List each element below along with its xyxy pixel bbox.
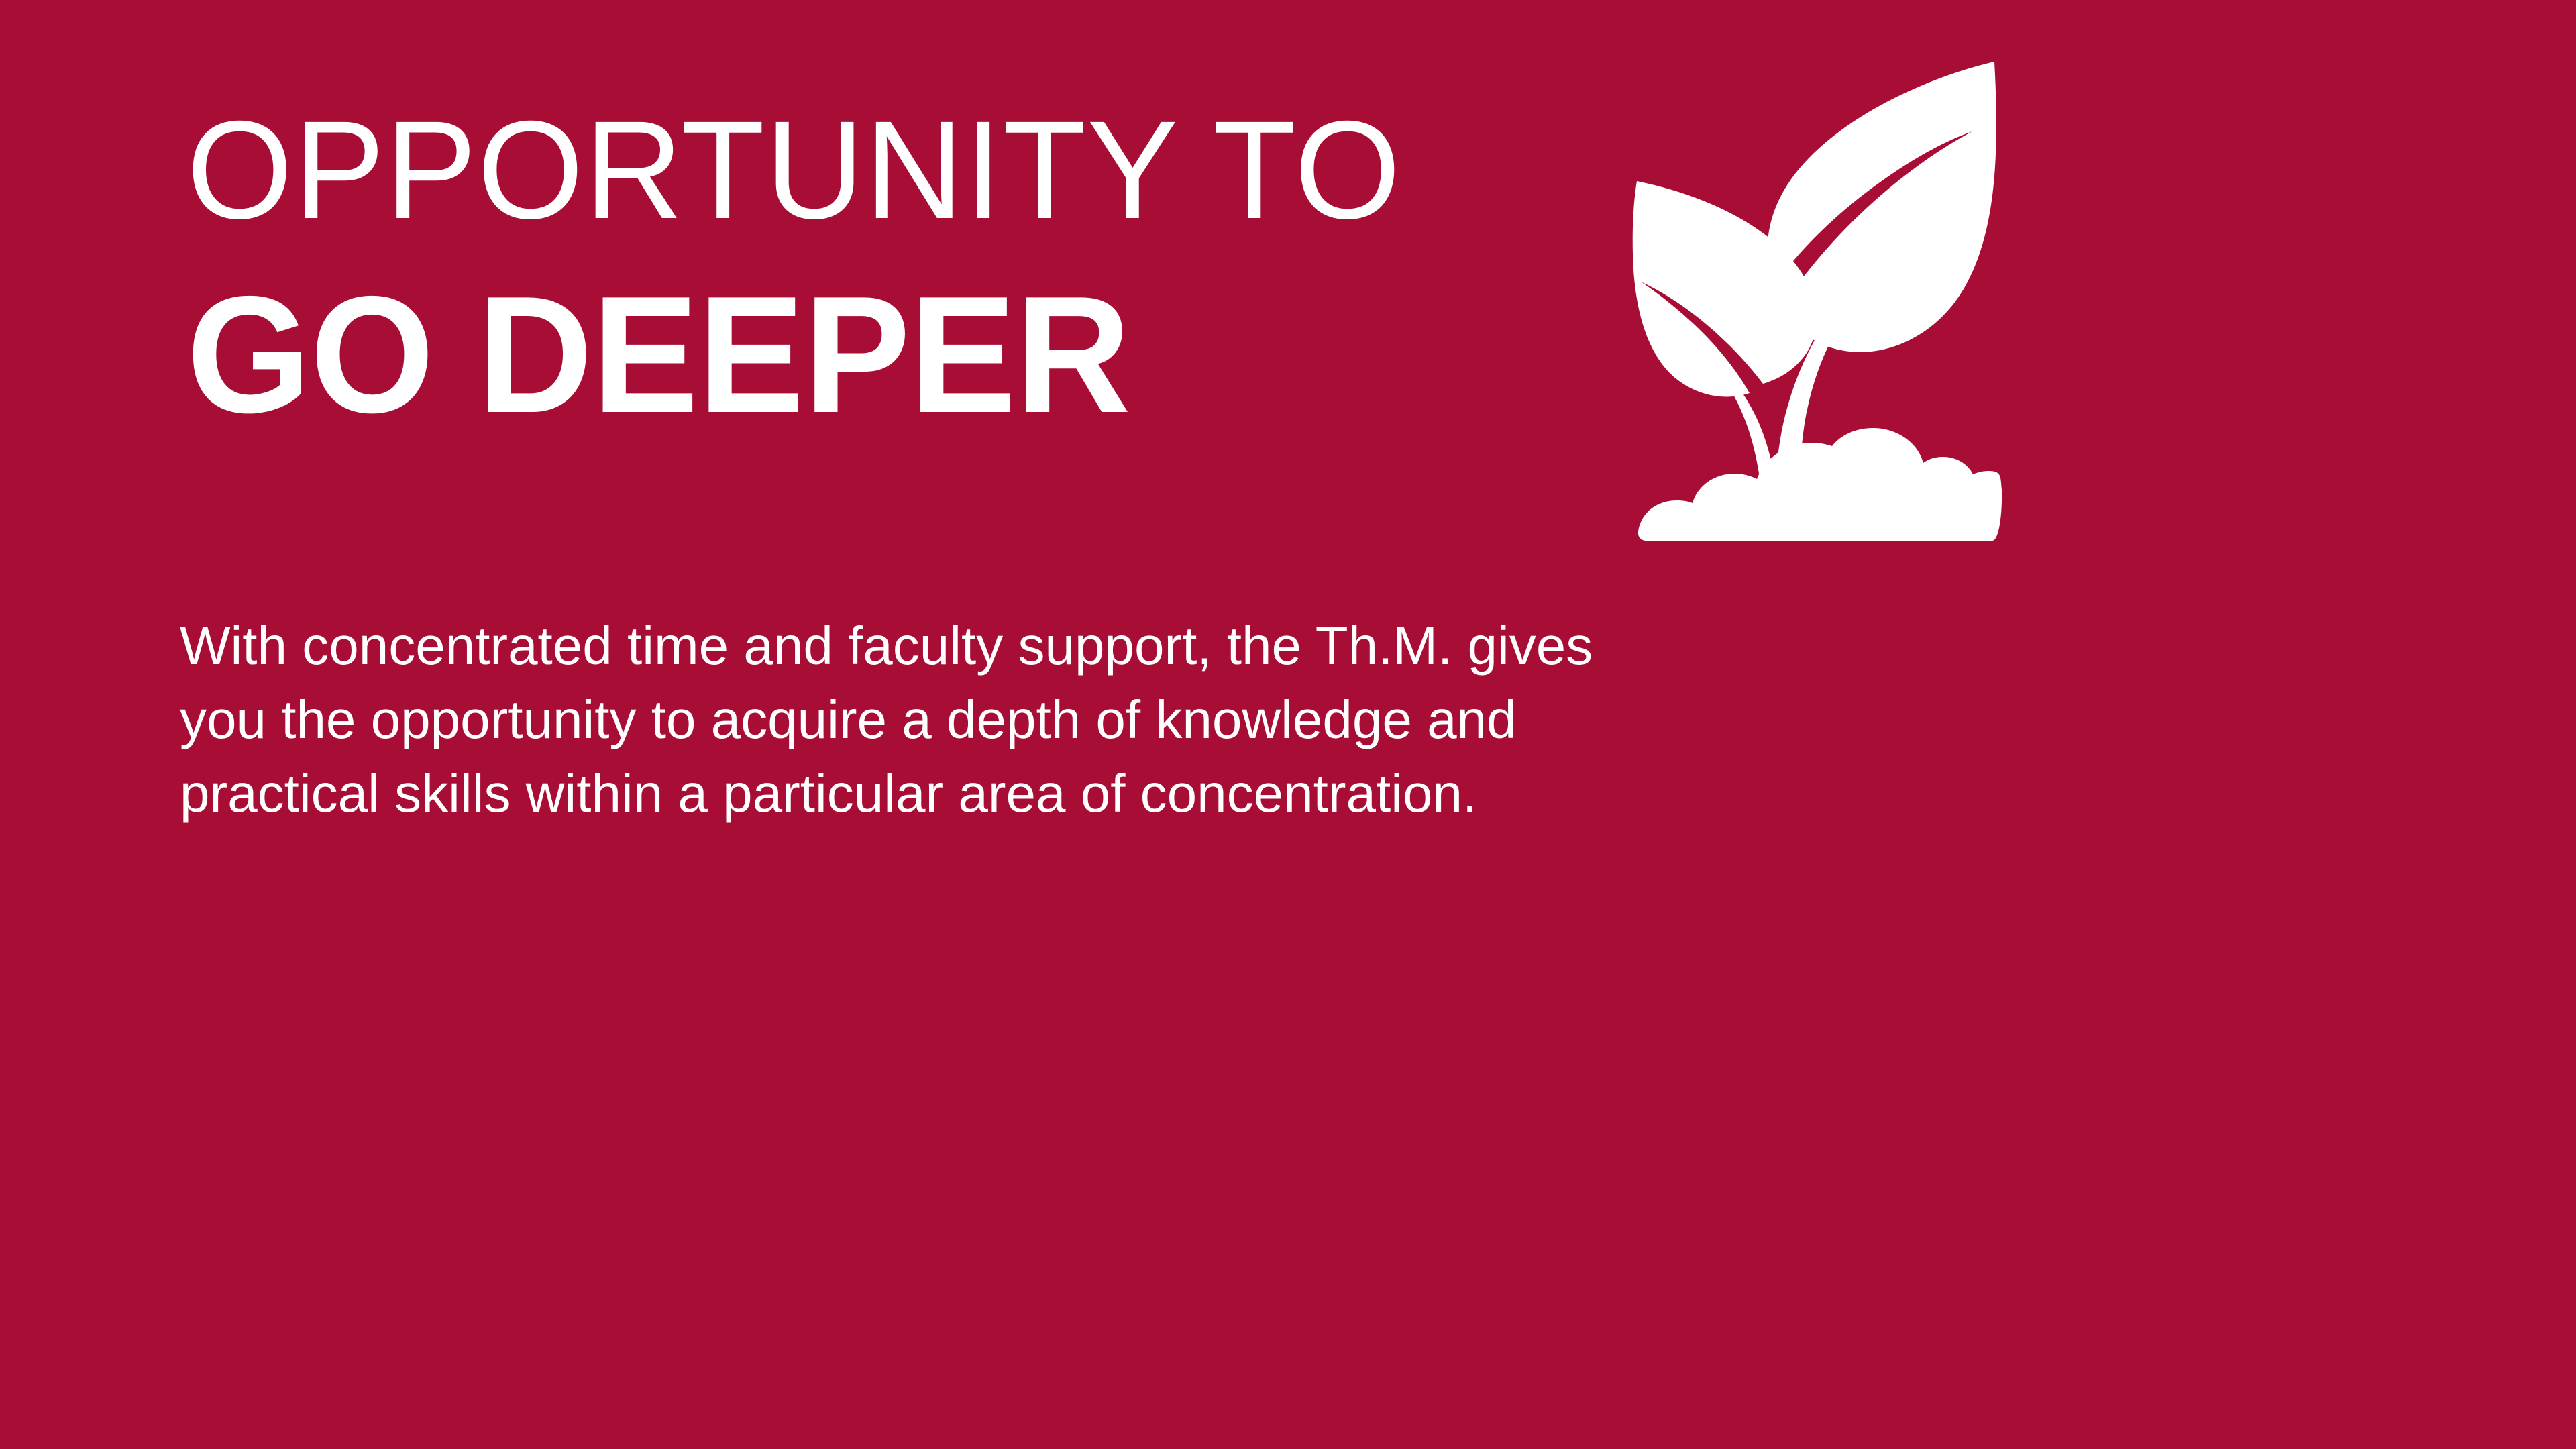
promo-slide: OPPORTUNITY TO GO DEEPER With concentrat… [0,0,2576,1449]
headline-line-1: OPPORTUNITY TO [186,101,1666,240]
headline-block: OPPORTUNITY TO GO DEEPER [186,101,1696,437]
body-line-1: With concentrated time and faculty suppo… [180,609,2300,683]
headline-line-2: GO DEEPER [186,271,1635,437]
body-line-2: you the opportunity to acquire a depth o… [180,683,2300,757]
body-paragraph: With concentrated time and faculty suppo… [180,609,2300,830]
body-line-3: practical skills within a particular are… [180,757,2300,830]
sprout-icon [1631,47,2007,543]
